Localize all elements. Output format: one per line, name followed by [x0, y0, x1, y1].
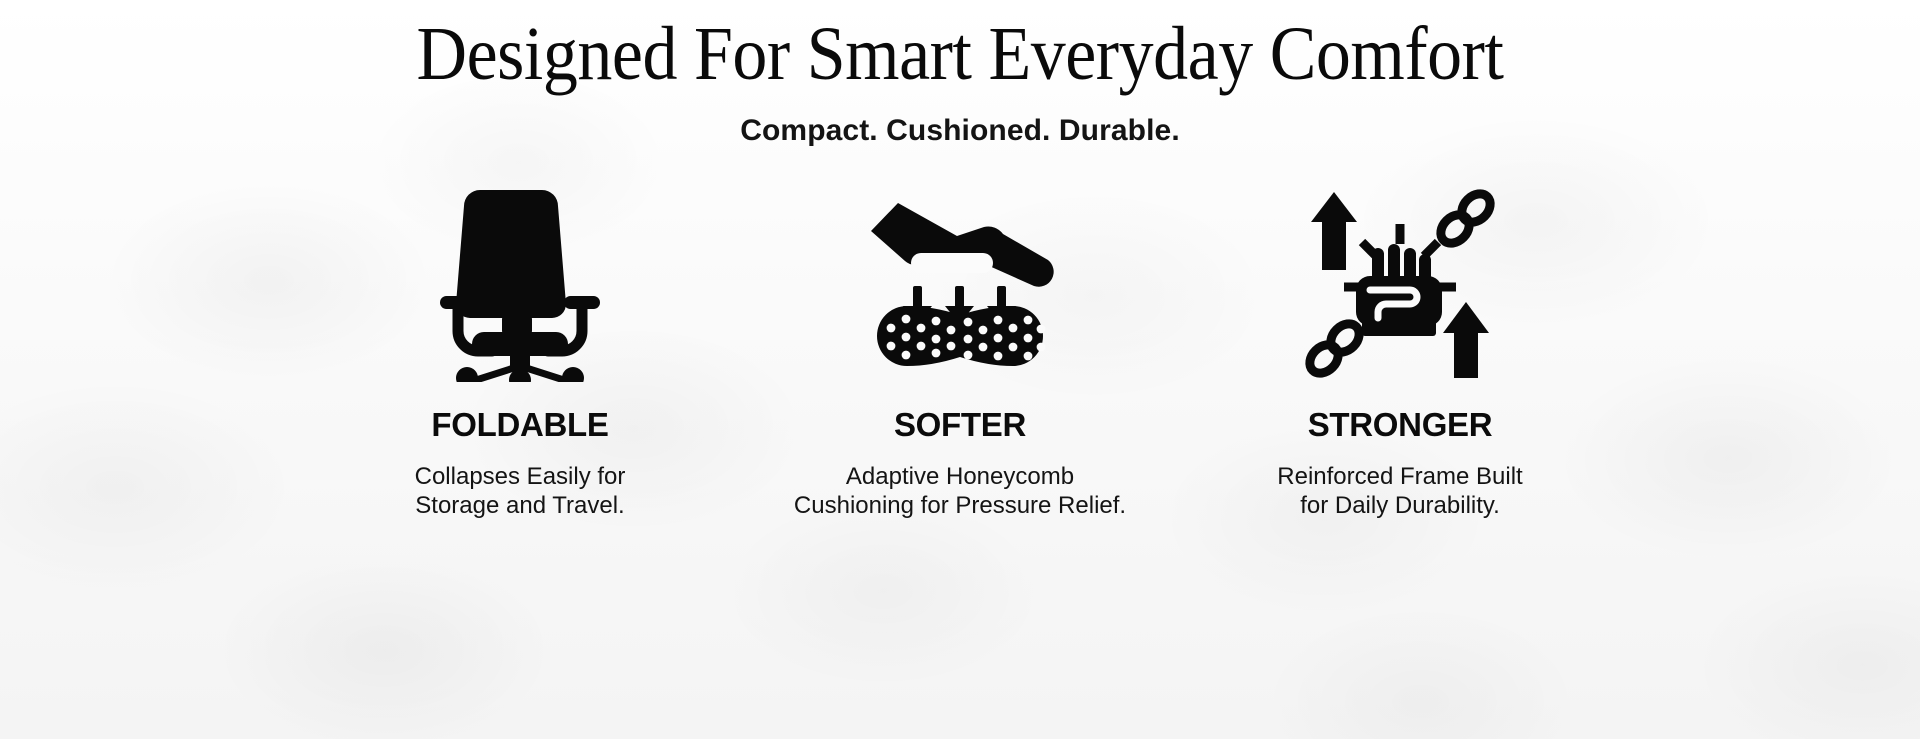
- page-title: Designed For Smart Everyday Comfort: [77, 0, 1843, 92]
- hand-pressing-cushion-icon: [850, 184, 1070, 384]
- product-feature-banner: Designed For Smart Everyday Comfort Comp…: [0, 0, 1920, 739]
- feature-title: STRONGER: [1308, 406, 1493, 444]
- feature-card-stronger: STRONGER Reinforced Frame Built for Dail…: [1180, 184, 1620, 521]
- feature-card-foldable: FOLDABLE Collapses Easily for Storage an…: [300, 184, 740, 521]
- feature-card-list: FOLDABLE Collapses Easily for Storage an…: [0, 184, 1920, 521]
- feature-description: Reinforced Frame Built for Daily Durabil…: [1277, 462, 1522, 521]
- strong-fist-chain-arrows-icon: [1290, 184, 1510, 384]
- page-subtitle: Compact. Cushioned. Durable.: [0, 114, 1920, 148]
- feature-description: Collapses Easily for Storage and Travel.: [415, 462, 626, 521]
- feature-description: Adaptive Honeycomb Cushioning for Pressu…: [794, 462, 1126, 521]
- office-chair-icon: [410, 184, 630, 384]
- feature-title: SOFTER: [894, 406, 1026, 444]
- feature-card-softer: SOFTER Adaptive Honeycomb Cushioning for…: [740, 184, 1180, 521]
- feature-title: FOLDABLE: [431, 406, 608, 444]
